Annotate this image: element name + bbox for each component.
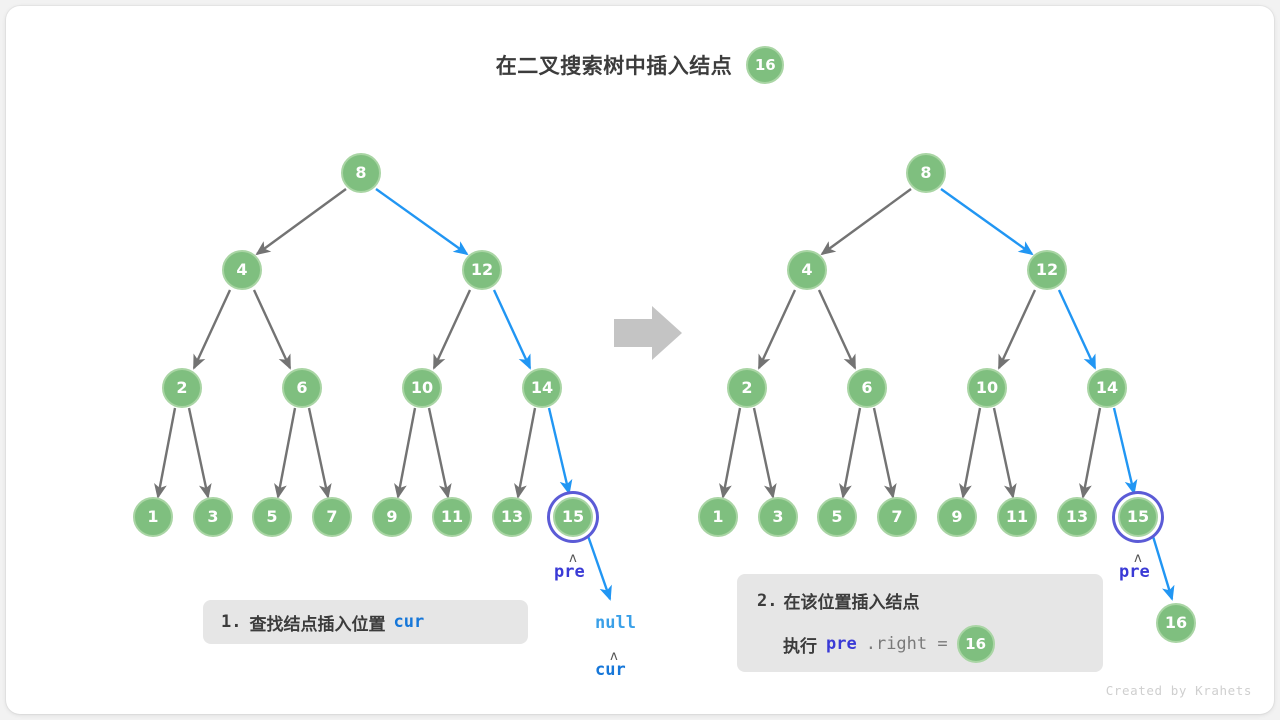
diagram-card: 在二叉搜索树中插入结点 16 841226101413579111315 841…: [6, 6, 1274, 714]
right-arrow-icon: [614, 306, 682, 360]
tree-node-5: 5: [817, 497, 857, 537]
tree-node-2: 2: [162, 368, 202, 408]
tree-node-8: 8: [906, 153, 946, 193]
tree-node-11: 11: [432, 497, 472, 537]
tree-node-15: 15: [553, 497, 593, 537]
caption-step-2: 2. 在该位置插入结点 执行 pre .right = 16: [737, 574, 1103, 672]
caption-step-1-var: cur: [393, 612, 424, 632]
tree-node-8: 8: [341, 153, 381, 193]
tree-node-4: 4: [787, 250, 827, 290]
caption-step-2-text: 在该位置插入结点: [783, 588, 919, 613]
tree-node-7: 7: [877, 497, 917, 537]
tree-node-9: 9: [937, 497, 977, 537]
caption-step-2-code-rest: .right =: [866, 634, 948, 654]
tree-node-12: 12: [462, 250, 502, 290]
caption-step-1-text: 查找结点插入位置: [249, 610, 385, 635]
page-title-text: 在二叉搜索树中插入结点: [496, 50, 733, 80]
tree-node-13: 13: [492, 497, 532, 537]
cur-pointer-label: cur: [595, 660, 626, 680]
tree-node-4: 4: [222, 250, 262, 290]
caption-step-1: 1. 查找结点插入位置 cur: [203, 600, 528, 644]
caption-step-1-number: 1.: [221, 612, 241, 632]
tree-node-1: 1: [133, 497, 173, 537]
pre-pointer-label: pre: [1119, 562, 1150, 582]
tree-node-5: 5: [252, 497, 292, 537]
pre-pointer-label: pre: [554, 562, 585, 582]
tree-node-6: 6: [847, 368, 887, 408]
caption-step-2-number: 2.: [757, 591, 777, 611]
tree-node-10: 10: [967, 368, 1007, 408]
caption-step-2-line2: 执行 pre .right = 16: [757, 625, 1085, 663]
caption-step-2-prefix: 执行: [783, 632, 817, 657]
tree-node-15: 15: [1118, 497, 1158, 537]
title-node-badge: 16: [746, 46, 784, 84]
tree-node-1: 1: [698, 497, 738, 537]
tree-node-11: 11: [997, 497, 1037, 537]
caption-step-2-code-var: pre: [826, 634, 857, 654]
tree-node-9: 9: [372, 497, 412, 537]
tree-node-3: 3: [193, 497, 233, 537]
tree-node-7: 7: [312, 497, 352, 537]
tree-node-12: 12: [1027, 250, 1067, 290]
tree-node-14: 14: [1087, 368, 1127, 408]
page-title: 在二叉搜索树中插入结点 16: [6, 46, 1274, 84]
tree-node-10: 10: [402, 368, 442, 408]
caption-step-2-node-badge: 16: [957, 625, 995, 663]
watermark: Created by Krahets: [1106, 683, 1252, 698]
tree-node-2: 2: [727, 368, 767, 408]
tree-node-13: 13: [1057, 497, 1097, 537]
caption-step-2-line1: 2. 在该位置插入结点: [757, 588, 1085, 613]
null-node-label: null: [595, 613, 636, 633]
tree-node-6: 6: [282, 368, 322, 408]
screenshot-root: 在二叉搜索树中插入结点 16 841226101413579111315 841…: [0, 0, 1280, 720]
tree-node-14: 14: [522, 368, 562, 408]
tree-node-16: 16: [1156, 603, 1196, 643]
tree-node-3: 3: [758, 497, 798, 537]
